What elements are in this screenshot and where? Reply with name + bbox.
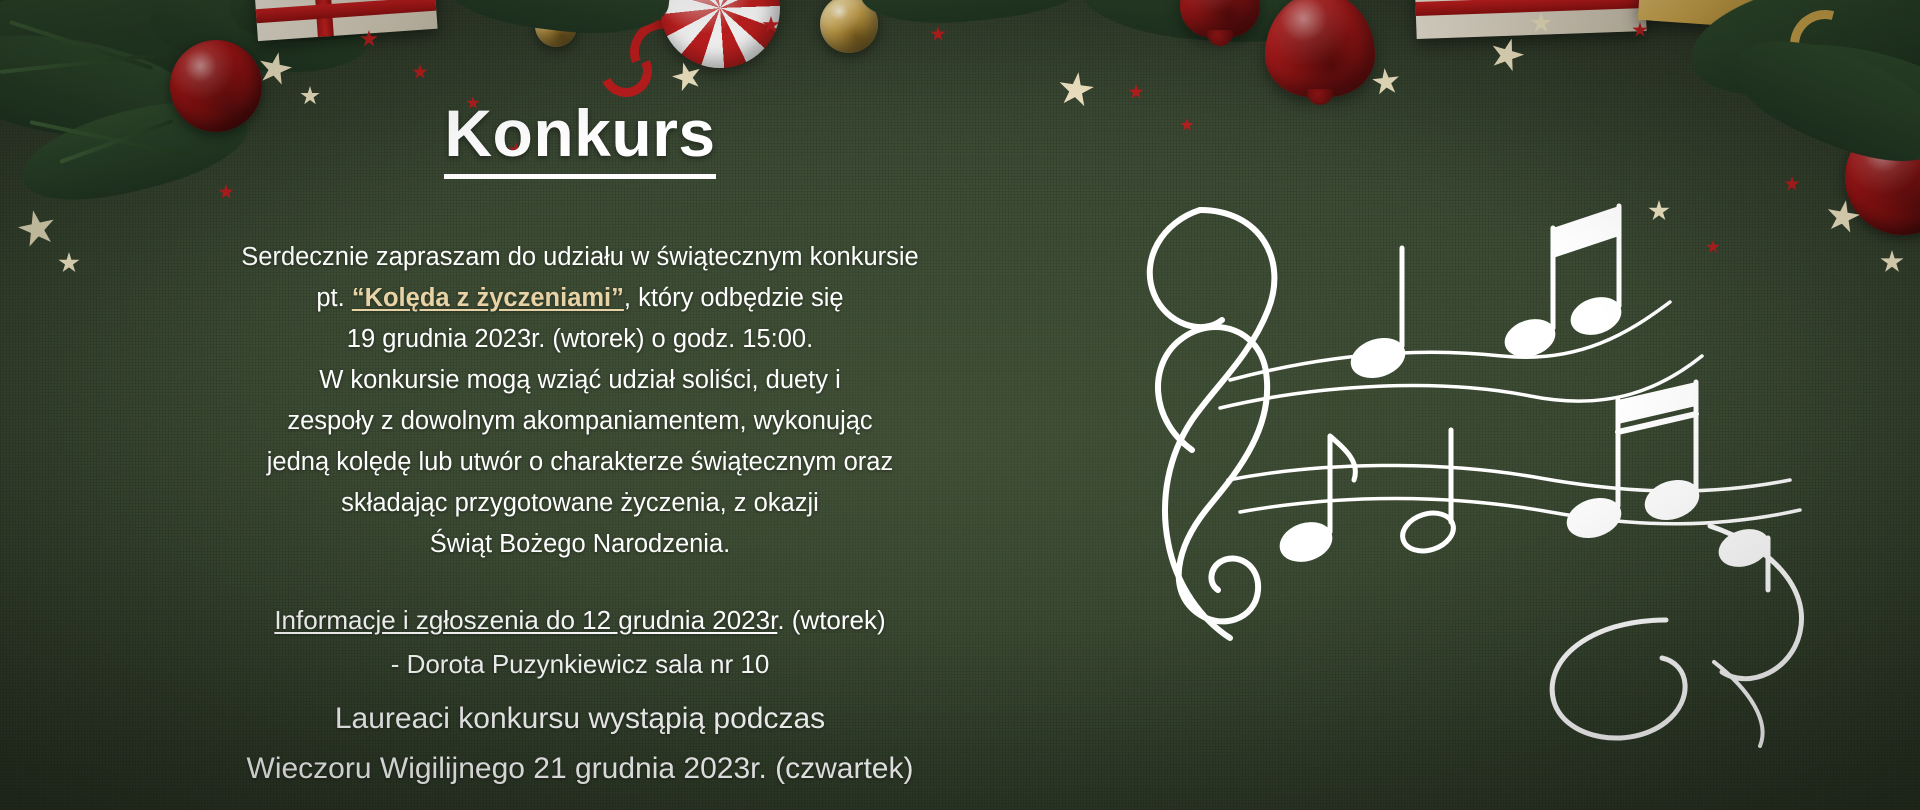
- invitation-line-4: W konkursie mogą wziąć udział soliści, d…: [0, 360, 1160, 401]
- star-confetti-icon: [1648, 200, 1670, 222]
- contact-person-line: - Dorota Puzynkiewicz sala nr 10: [0, 642, 1160, 686]
- red-bell-ornament: [1265, 0, 1375, 97]
- invitation-line-3: 19 grudnia 2023r. (wtorek) o godz. 15:00…: [0, 319, 1160, 360]
- christmas-contest-poster: Konkurs Serdecznie zapraszam do udziału …: [0, 0, 1920, 810]
- star-confetti-icon: [1880, 250, 1904, 274]
- invitation-line-5: zespoły z dowolnym akompaniamentem, wyko…: [0, 401, 1160, 442]
- pine-branch-icon: [1721, 17, 1920, 183]
- poster-text-content: Konkurs Serdecznie zapraszam do udziału …: [0, 0, 1160, 810]
- signup-deadline-underlined: Informacje i zgłoszenia do 12 grudnia 20…: [274, 605, 777, 635]
- invitation-line-7: składając przygotowane życzenia, z okazj…: [0, 483, 1160, 524]
- contest-name-highlight: “Kolęda z życzeniami”: [352, 284, 624, 312]
- invitation-line-8: Świąt Bożego Narodzenia.: [0, 524, 1160, 565]
- invitation-line-2-suffix: , który odbędzie się: [624, 284, 844, 312]
- invitation-line-6: jedną kolędę lub utwór o charakterze świ…: [0, 442, 1160, 483]
- invitation-line-2-prefix: pt.: [316, 284, 351, 312]
- signup-info-paragraph: Informacje i zgłoszenia do 12 grudnia 20…: [0, 598, 1160, 686]
- page-title-text: Konkurs: [444, 96, 715, 179]
- laureates-line-2: Wieczoru Wigilijnego 21 grudnia 2023r. (…: [0, 744, 1160, 794]
- signup-deadline-rest: . (wtorek): [777, 605, 885, 635]
- laureates-paragraph: Laureaci konkursu wystąpią podczas Wiecz…: [0, 694, 1160, 794]
- invitation-paragraph: Serdecznie zapraszam do udziału w świąte…: [0, 237, 1160, 565]
- star-confetti-icon: [1486, 34, 1528, 76]
- laureates-line-1: Laureaci konkursu wystąpią podczas: [0, 694, 1160, 744]
- invitation-line-1: Serdecznie zapraszam do udziału w świąte…: [0, 237, 1160, 278]
- star-confetti-icon: [1371, 67, 1402, 98]
- star-confetti-icon: [1784, 176, 1800, 192]
- invitation-line-2: pt. “Kolęda z życzeniami”, który odbędzi…: [0, 278, 1160, 319]
- right-edge-decoration: [1590, 0, 1920, 440]
- page-title: Konkurs: [0, 95, 1160, 171]
- star-confetti-icon: [1706, 240, 1720, 254]
- star-confetti-icon: [1180, 118, 1194, 132]
- signup-deadline-line: Informacje i zgłoszenia do 12 grudnia 20…: [0, 598, 1160, 642]
